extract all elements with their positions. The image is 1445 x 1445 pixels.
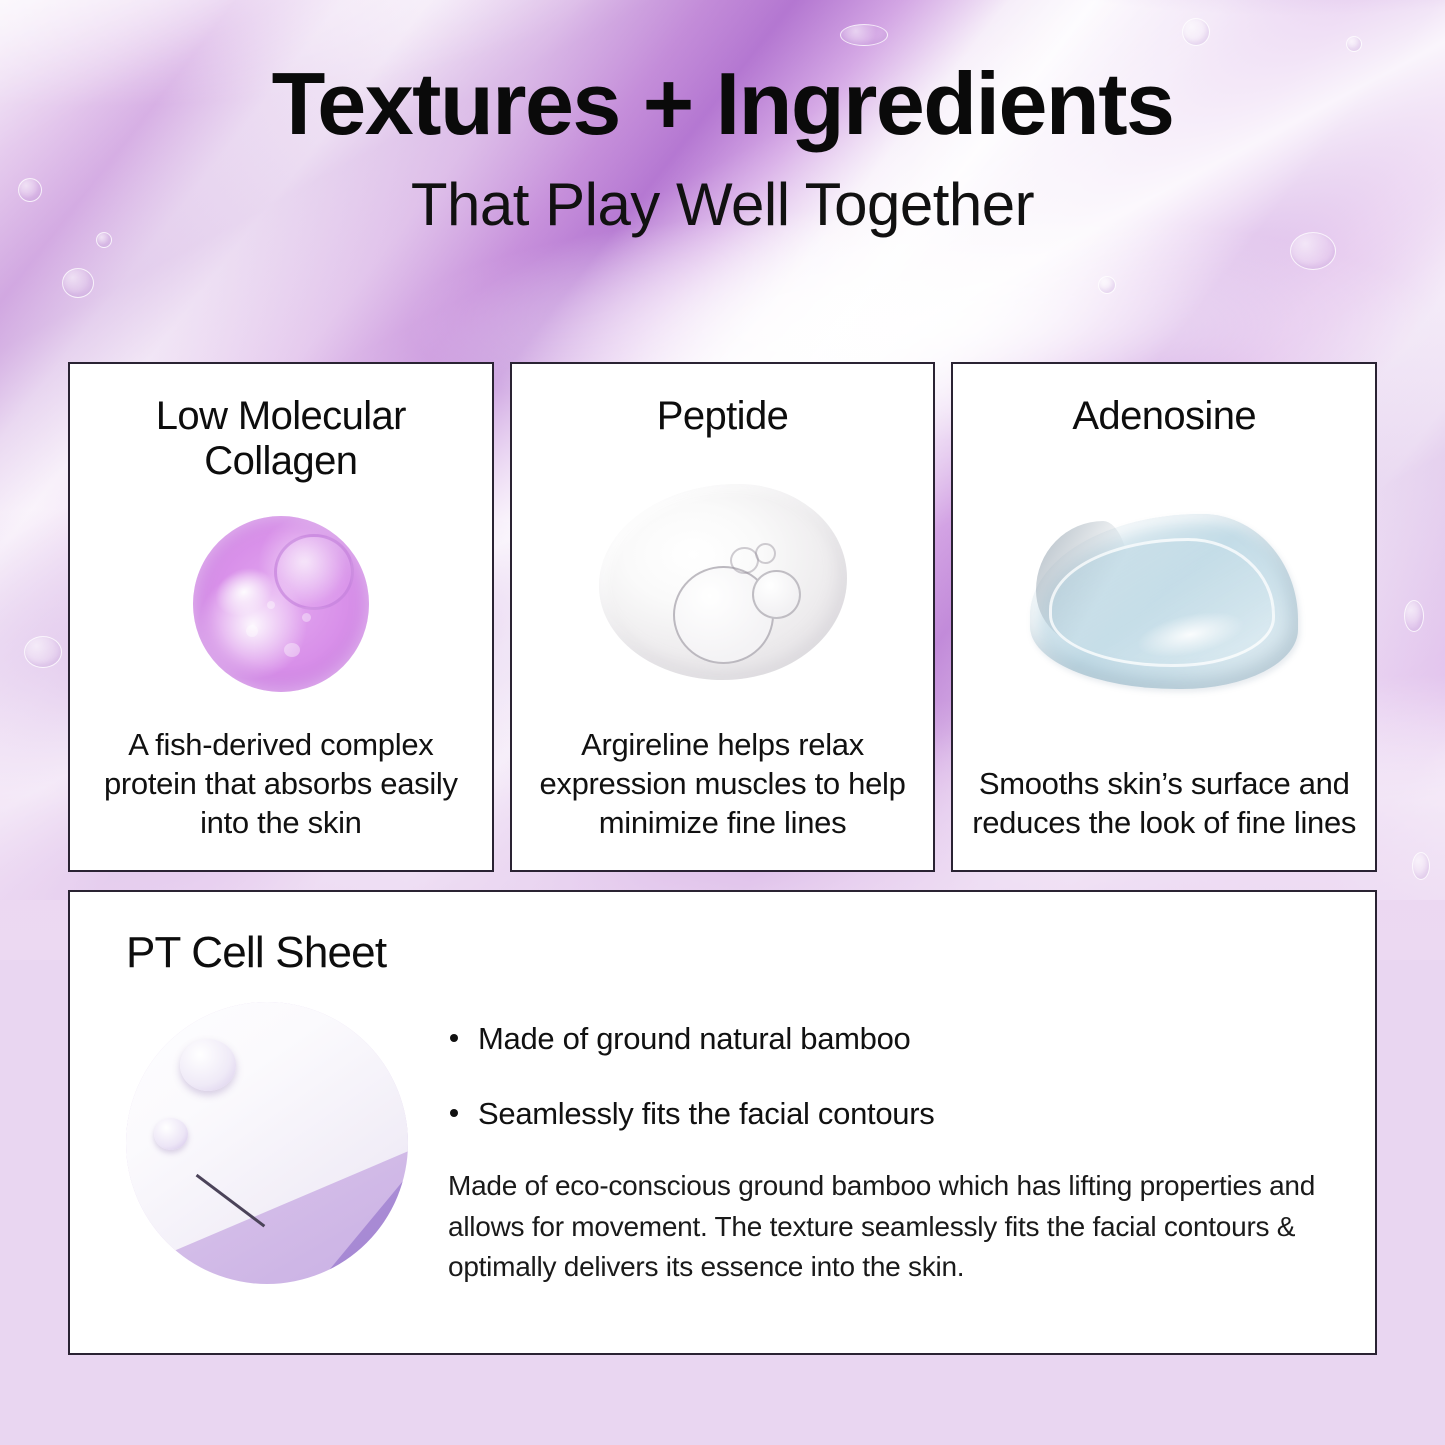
pt-cell-sheet-panel: PT Cell Sheet Made of ground natural bam… (68, 890, 1377, 1355)
bg-bubble-icon (24, 636, 62, 668)
bubble-highlight-icon (207, 559, 280, 625)
ingredient-card-adenosine: Adenosine Smooths skin’s surface and red… (951, 362, 1377, 872)
gel-bubble-small-icon (755, 543, 776, 565)
card-title: Adenosine (1072, 394, 1256, 439)
bg-bubble-icon (62, 268, 94, 298)
page-title: Textures + Ingredients (0, 58, 1445, 150)
card-description: Argireline helps relax expression muscle… (530, 725, 916, 848)
water-droplet-icon (154, 1118, 188, 1150)
bubble-dot-icon (267, 601, 275, 609)
clear-gel-blob-swatch (599, 484, 847, 680)
card-swatch (88, 484, 474, 725)
panel-paragraph: Made of eco-conscious ground bamboo whic… (448, 1166, 1333, 1287)
bubble-dot-icon (246, 625, 258, 637)
bg-bubble-icon (1098, 276, 1116, 294)
blue-gel-teardrop-swatch (1030, 514, 1298, 689)
card-description: A fish-derived complex protein that abso… (88, 725, 474, 848)
bg-bubble-icon (1404, 600, 1424, 632)
infographic-page: Textures + Ingredients That Play Well To… (0, 0, 1445, 1445)
card-swatch (530, 439, 916, 725)
panel-bullet-list: Made of ground natural bamboo Seamlessly… (448, 1020, 1333, 1132)
page-subtitle: That Play Well Together (0, 172, 1445, 238)
card-title: Low Molecular Collagen (156, 394, 406, 484)
bg-bubble-icon (1412, 852, 1430, 880)
bg-bubble-icon (1182, 18, 1210, 46)
gel-bubble-medium-icon (752, 570, 801, 619)
list-item: Seamlessly fits the facial contours (448, 1095, 1333, 1132)
bubble-inner-icon (274, 534, 354, 610)
bubble-dot-icon (302, 613, 311, 622)
panel-text-column: Made of ground natural bamboo Seamlessly… (448, 1002, 1333, 1287)
bubble-dot-icon (284, 643, 300, 657)
purple-collagen-bubble-swatch (193, 516, 369, 692)
ingredient-cards-row: Low Molecular Collagen A fish-derived co… (68, 362, 1377, 872)
ingredient-card-collagen: Low Molecular Collagen A fish-derived co… (68, 362, 494, 872)
card-title: Peptide (657, 394, 788, 439)
list-item: Made of ground natural bamboo (448, 1020, 1333, 1057)
list-item-label: Made of ground natural bamboo (478, 1021, 911, 1056)
sheet-mask-closeup-photo (126, 1002, 408, 1284)
bullet-dot-icon (450, 1109, 458, 1117)
header-block: Textures + Ingredients That Play Well To… (0, 58, 1445, 238)
panel-title: PT Cell Sheet (126, 928, 1333, 978)
ingredient-card-peptide: Peptide Argireline helps relax expressio… (510, 362, 936, 872)
panel-body: Made of ground natural bamboo Seamlessly… (126, 1002, 1333, 1287)
card-swatch (971, 439, 1357, 764)
list-item-label: Seamlessly fits the facial contours (478, 1096, 934, 1131)
bullet-dot-icon (450, 1034, 458, 1042)
bg-bubble-icon (840, 24, 888, 46)
bg-bubble-icon (1346, 36, 1362, 52)
card-description: Smooths skin’s surface and reduces the l… (971, 764, 1357, 848)
water-droplet-icon (180, 1039, 236, 1091)
